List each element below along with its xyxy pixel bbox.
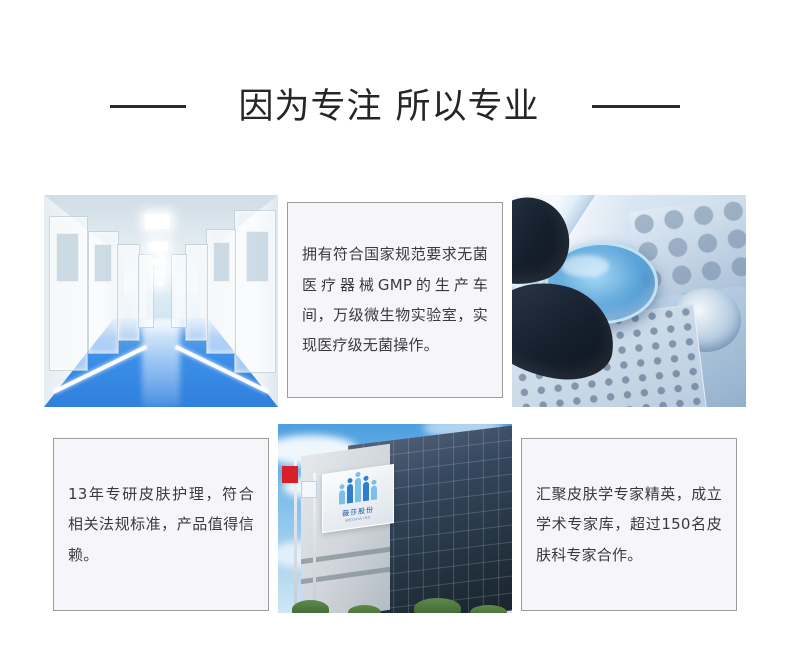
laboratory-petri-dish-photo — [512, 195, 746, 407]
company-headquarters-photo: 薇莎股份 WEISHA INC — [278, 424, 512, 613]
skincare-research-textbox: 13年专研皮肤护理，符合相关法规标准，产品值得信赖。 — [53, 438, 269, 611]
cleanroom-corridor-photo — [44, 195, 278, 407]
dermatology-experts-text: 汇聚皮肤学专家精英，成立学术专家库，超过150名皮肤科专家合作。 — [536, 479, 722, 570]
page-title-part2: 所以专业 — [396, 87, 540, 126]
company-flag-icon — [301, 481, 317, 498]
section-header: 因为专注所以专业 — [0, 78, 790, 134]
page-title-part1: 因为专注 — [238, 87, 382, 126]
grid-cell-cleanroom — [44, 195, 278, 412]
grid-cell-laboratory — [512, 195, 746, 412]
logo-figures-icon — [340, 474, 378, 505]
header-rule-right — [592, 105, 680, 108]
grid-cell-gmp-text: 拥有符合国家规范要求无菌医疗器械GMP的生产车间，万级微生物实验室，实现医疗级无… — [278, 195, 512, 412]
feature-grid: 拥有符合国家规范要求无菌医疗器械GMP的生产车间，万级微生物实验室，实现医疗级无… — [44, 195, 746, 613]
china-flag-icon — [282, 466, 298, 483]
gmp-workshop-text: 拥有符合国家规范要求无菌医疗器械GMP的生产车间，万级微生物实验室，实现医疗级无… — [302, 239, 488, 360]
company-logo-sign: 薇莎股份 WEISHA INC — [322, 464, 394, 533]
grid-cell-headquarters: 薇莎股份 WEISHA INC — [278, 412, 512, 613]
skincare-research-text: 13年专研皮肤护理，符合相关法规标准，产品值得信赖。 — [68, 479, 254, 570]
header-rule-left — [110, 105, 186, 108]
gmp-workshop-textbox: 拥有符合国家规范要求无菌医疗器械GMP的生产车间，万级微生物实验室，实现医疗级无… — [287, 202, 503, 398]
dermatology-experts-textbox: 汇聚皮肤学专家精英，成立学术专家库，超过150名皮肤科专家合作。 — [521, 438, 737, 611]
grid-cell-experts-text: 汇聚皮肤学专家精英，成立学术专家库，超过150名皮肤科专家合作。 — [512, 412, 746, 613]
page-title: 因为专注所以专业 — [238, 89, 539, 124]
grid-cell-skincare-text: 13年专研皮肤护理，符合相关法规标准，产品值得信赖。 — [44, 412, 278, 613]
